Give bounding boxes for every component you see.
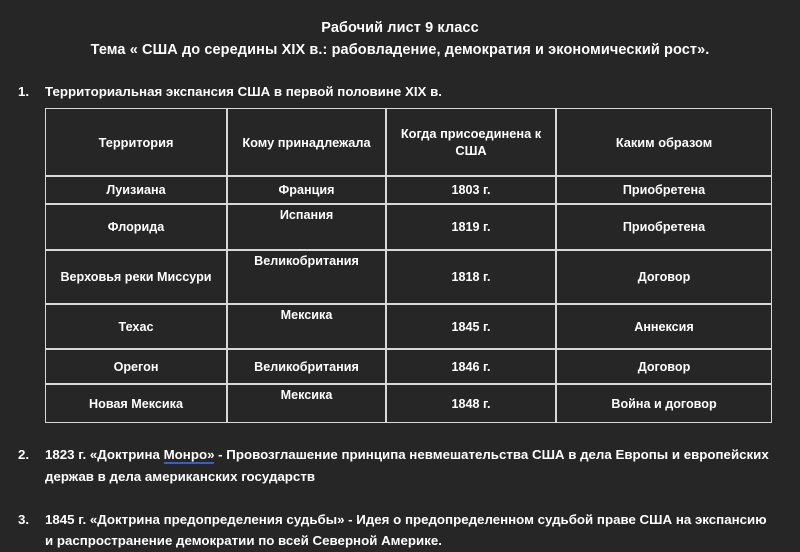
cell-owner: Великобритания	[227, 349, 386, 384]
table-row: Техас Мексика 1845 г. Аннексия	[45, 304, 772, 349]
column-header-territory: Территория	[45, 108, 227, 176]
cell-territory: Флорида	[45, 204, 227, 250]
cell-year: 1819 г.	[386, 204, 556, 250]
cell-method: Аннексия	[556, 304, 772, 349]
cell-owner: Испания	[227, 204, 386, 250]
list-item-1-marker: 1.	[18, 81, 29, 103]
page-title: Рабочий лист 9 класс	[0, 17, 800, 39]
table-row: Луизиана Франция 1803 г. Приобретена	[45, 176, 772, 204]
cell-territory: Новая Мексика	[45, 384, 227, 423]
table-row: Верховья реки Миссури Великобритания 181…	[45, 250, 772, 304]
worksheet-page: Рабочий лист 9 класс Тема « США до серед…	[0, 0, 800, 533]
cell-year: 1845 г.	[386, 304, 556, 349]
cell-owner: Мексика	[227, 304, 386, 349]
document-heading: Рабочий лист 9 класс Тема « США до серед…	[0, 0, 800, 62]
cell-year: 1803 г.	[386, 176, 556, 204]
cell-method: Договор	[556, 250, 772, 304]
list-item-2-text-before: 1823 г. «Доктрина	[45, 447, 164, 462]
cell-owner: Мексика	[227, 384, 386, 423]
table-row: Орегон Великобритания 1846 г. Договор	[45, 349, 772, 384]
list-item-2: 2. 1823 г. «Доктрина Монро» - Провозглаш…	[0, 444, 800, 487]
cell-method: Приобретена	[556, 176, 772, 204]
list-item-3-label: 1845 г. «Доктрина предопределения судьбы…	[45, 512, 767, 549]
column-header-year: Когда присоединена к США	[386, 108, 556, 176]
list-item-1-label: Территориальная экспансия США в первой п…	[45, 84, 442, 99]
list-item-3-marker: 3.	[18, 509, 29, 531]
spellcheck-marked-word: Монро»	[164, 447, 215, 464]
cell-method: Война и договор	[556, 384, 772, 423]
table-row: Флорида Испания 1819 г. Приобретена	[45, 204, 772, 250]
cell-year: 1848 г.	[386, 384, 556, 423]
table-header-row: Территория Кому принадлежала Когда присо…	[45, 108, 772, 176]
territorial-expansion-table: Территория Кому принадлежала Когда присо…	[45, 108, 772, 423]
expansion-table-container: Территория Кому принадлежала Когда присо…	[45, 108, 772, 423]
list-item-2-marker: 2.	[18, 444, 29, 466]
column-header-owner: Кому принадлежала	[227, 108, 386, 176]
cell-year: 1818 г.	[386, 250, 556, 304]
cell-owner: Франция	[227, 176, 386, 204]
page-subtitle: Тема « США до середины XIX в.: рабовладе…	[0, 39, 800, 61]
cell-method: Договор	[556, 349, 772, 384]
list-item-1: 1. Территориальная экспансия США в перво…	[0, 81, 800, 103]
cell-year: 1846 г.	[386, 349, 556, 384]
table-row: Новая Мексика Мексика 1848 г. Война и до…	[45, 384, 772, 423]
cell-method: Приобретена	[556, 204, 772, 250]
list-item-3: 3. 1845 г. «Доктрина предопределения суд…	[0, 509, 800, 552]
cell-territory: Орегон	[45, 349, 227, 384]
cell-territory: Техас	[45, 304, 227, 349]
cell-territory: Луизиана	[45, 176, 227, 204]
column-header-method: Каким образом	[556, 108, 772, 176]
cell-territory: Верховья реки Миссури	[45, 250, 227, 304]
cell-owner: Великобритания	[227, 250, 386, 304]
